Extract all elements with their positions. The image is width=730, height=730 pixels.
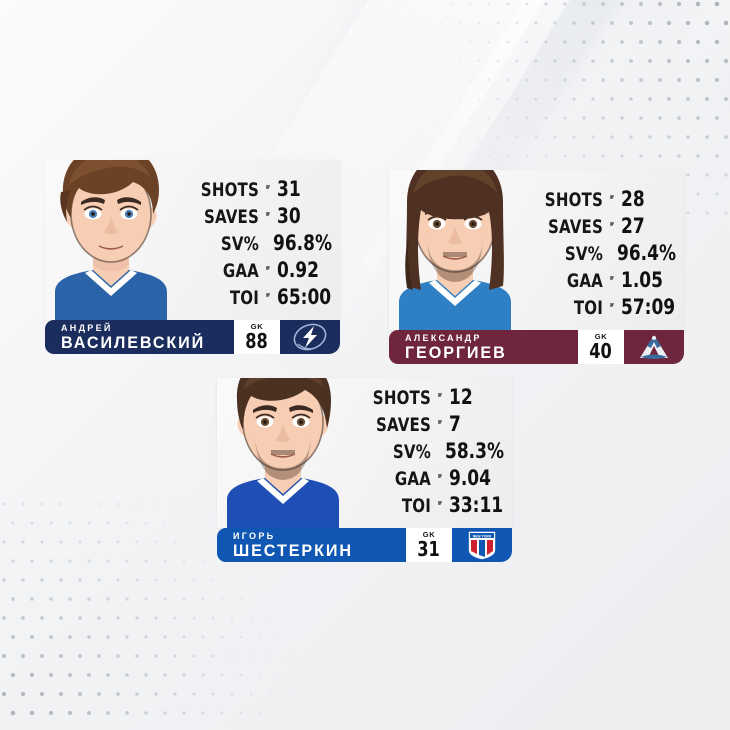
- stat-row: SHOTS 12: [353, 385, 511, 412]
- stat-row: SAVES 27: [525, 214, 683, 241]
- stat-connector-dots: [610, 219, 614, 229]
- stat-value: 57:09: [621, 295, 677, 319]
- stat-value: 33:11: [449, 493, 505, 517]
- player-number-block: GK 88: [236, 320, 278, 354]
- stat-value: 96.4%: [617, 241, 676, 265]
- background: [0, 0, 730, 730]
- player-card-georgiev[interactable]: SHOTS 28 SAVES 27 SV% 96.4% GAA 1.05 TOI…: [389, 170, 684, 364]
- player-name-bar[interactable]: АНДРЕЙ ВАСИЛЕВСКИЙ GK 88: [45, 320, 340, 354]
- stat-connector-dots: [266, 182, 270, 192]
- stat-label: SAVES: [534, 216, 603, 238]
- stat-row: SAVES 7: [353, 412, 511, 439]
- stat-connector-dots: [438, 471, 442, 481]
- stat-label: TOI: [362, 495, 431, 517]
- card-panel: SHOTS 12 SAVES 7 SV% 58.3% GAA 9.04 TOI …: [217, 378, 512, 528]
- stat-label: SV%: [190, 233, 259, 255]
- stat-value: 30: [277, 204, 333, 228]
- player-name-bar[interactable]: ИГОРЬ ШЕСТЕРКИН GK 31 NEW YORK: [217, 528, 512, 562]
- stat-connector-dots: [610, 273, 614, 283]
- stat-value: 58.3%: [445, 439, 504, 463]
- stat-value: 65:00: [277, 285, 333, 309]
- stat-list: SHOTS 12 SAVES 7 SV% 58.3% GAA 9.04 TOI …: [349, 385, 512, 528]
- stat-label: SHOTS: [362, 387, 431, 409]
- stat-value: 28: [621, 187, 677, 211]
- stat-label: SV%: [362, 441, 431, 463]
- stat-value: 1.05: [621, 268, 677, 292]
- player-portrait: [389, 170, 521, 330]
- stat-row: SV% 96.8%: [181, 231, 339, 258]
- stat-label: TOI: [190, 287, 259, 309]
- player-name-block: АЛЕКСАНДР ГЕОРГИЕВ: [389, 330, 578, 364]
- team-logo-block[interactable]: [280, 320, 340, 354]
- stat-label: SAVES: [190, 206, 259, 228]
- team-logo-block[interactable]: [624, 330, 684, 364]
- player-number-block: GK 31: [408, 528, 450, 562]
- player-number: 31: [418, 539, 441, 559]
- team-logo-block[interactable]: NEW YORK: [452, 528, 512, 562]
- lightning-bolt-icon: [290, 322, 330, 352]
- svg-text:NEW YORK: NEW YORK: [473, 534, 492, 538]
- stat-connector-dots: [438, 417, 442, 427]
- stat-connector-dots: [266, 290, 270, 300]
- stat-label: GAA: [534, 270, 603, 292]
- player-name-bar[interactable]: АЛЕКСАНДР ГЕОРГИЕВ GK 40: [389, 330, 684, 364]
- stat-connector-dots: [610, 192, 614, 202]
- stat-label: SAVES: [362, 414, 431, 436]
- stat-list: SHOTS 28 SAVES 27 SV% 96.4% GAA 1.05 TOI…: [521, 187, 684, 330]
- player-card-shesterkin[interactable]: SHOTS 12 SAVES 7 SV% 58.3% GAA 9.04 TOI …: [217, 378, 512, 562]
- player-last-name: ШЕСТЕРКИН: [233, 542, 388, 559]
- stat-row: TOI 57:09: [525, 295, 683, 322]
- avalanche-a-mountain-icon: [635, 332, 673, 362]
- player-number: 40: [590, 341, 613, 361]
- stat-row: SV% 96.4%: [525, 241, 683, 268]
- stat-label: GAA: [362, 468, 431, 490]
- player-number: 88: [246, 331, 269, 351]
- stat-row: GAA 0.92: [181, 258, 339, 285]
- player-name-block: ИГОРЬ ШЕСТЕРКИН: [217, 528, 406, 562]
- player-last-name: ГЕОРГИЕВ: [405, 344, 560, 361]
- stat-label: TOI: [534, 297, 603, 319]
- stat-row: TOI 65:00: [181, 285, 339, 312]
- rangers-shield-icon: NEW YORK: [465, 529, 499, 561]
- card-panel: SHOTS 28 SAVES 27 SV% 96.4% GAA 1.05 TOI…: [389, 170, 684, 330]
- stat-label: SHOTS: [190, 179, 259, 201]
- player-name-block: АНДРЕЙ ВАСИЛЕВСКИЙ: [45, 320, 234, 354]
- stat-connector-dots: [266, 263, 270, 273]
- player-portrait: [45, 160, 177, 320]
- player-last-name: ВАСИЛЕВСКИЙ: [61, 334, 216, 351]
- stat-row: TOI 33:11: [353, 493, 511, 520]
- stat-value: 12: [449, 385, 505, 409]
- card-panel: SHOTS 31 SAVES 30 SV% 96.8% GAA 0.92 TOI…: [45, 160, 340, 320]
- stat-connector-dots: [610, 300, 614, 310]
- stat-row: GAA 1.05: [525, 268, 683, 295]
- player-portrait: [217, 378, 349, 528]
- stat-value: 27: [621, 214, 677, 238]
- stat-list: SHOTS 31 SAVES 30 SV% 96.8% GAA 0.92 TOI…: [177, 177, 340, 320]
- stat-value: 7: [449, 412, 505, 436]
- stat-value: 31: [277, 177, 333, 201]
- stat-label: SV%: [534, 243, 603, 265]
- player-card-vasilevskiy[interactable]: SHOTS 31 SAVES 30 SV% 96.8% GAA 0.92 TOI…: [45, 160, 340, 354]
- stat-row: GAA 9.04: [353, 466, 511, 493]
- stat-label: GAA: [190, 260, 259, 282]
- stat-value: 96.8%: [273, 231, 332, 255]
- player-number-block: GK 40: [580, 330, 622, 364]
- stat-value: 0.92: [277, 258, 333, 282]
- stat-value: 9.04: [449, 466, 505, 490]
- stat-label: SHOTS: [534, 189, 603, 211]
- stat-row: SHOTS 31: [181, 177, 339, 204]
- stat-connector-dots: [266, 209, 270, 219]
- stat-row: SAVES 30: [181, 204, 339, 231]
- stat-row: SHOTS 28: [525, 187, 683, 214]
- stat-connector-dots: [438, 390, 442, 400]
- stat-row: SV% 58.3%: [353, 439, 511, 466]
- stat-connector-dots: [438, 498, 442, 508]
